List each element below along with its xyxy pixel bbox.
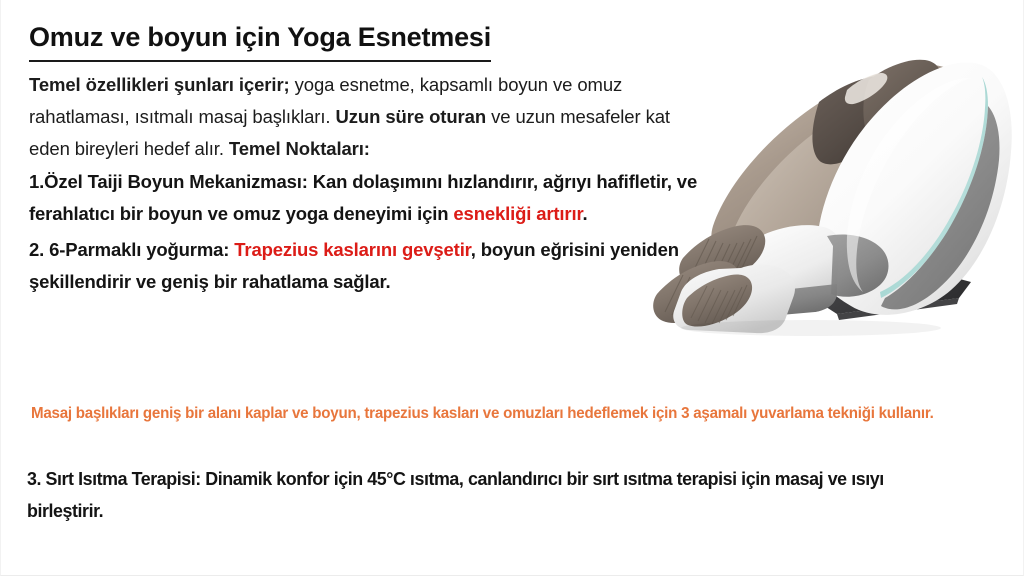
feature-item-1: 1.Özel Taiji Boyun Mekanizması: Kan dola… bbox=[29, 166, 709, 230]
content-column: Omuz ve boyun için Yoga Esnetmesi Temel … bbox=[29, 22, 709, 298]
feature-item-1-number: 1. bbox=[29, 171, 44, 192]
intro-lead-bold: Temel özellikleri şunları içerir; bbox=[29, 74, 290, 95]
intro-paragraph: Temel özellikleri şunları içerir; yoga e… bbox=[29, 69, 709, 166]
feature-item-2: 2. 6-Parmaklı yoğurma: Trapezius kasları… bbox=[29, 234, 709, 298]
intro-bold-3: Temel Noktaları: bbox=[229, 138, 370, 159]
slide-page: Omuz ve boyun için Yoga Esnetmesi Temel … bbox=[0, 0, 1024, 576]
feature-item-1-text-after: . bbox=[583, 203, 588, 224]
feature-item-2-text: 6-Parmaklı yoğurma: bbox=[49, 239, 234, 260]
massage-chair-svg bbox=[641, 36, 1024, 336]
feature-item-2-highlight: Trapezius kaslarını gevşetir bbox=[234, 239, 470, 260]
feature-item-1-text: Özel Taiji Boyun Mekanizması: Kan dolaşı… bbox=[29, 171, 697, 224]
chair-shadow bbox=[681, 320, 941, 336]
callout-text: Masaj başlıkları geniş bir alanı kaplar … bbox=[31, 400, 938, 428]
feature-item-1-highlight: esnekliği artırır bbox=[453, 203, 582, 224]
page-title: Omuz ve boyun için Yoga Esnetmesi bbox=[29, 22, 491, 62]
intro-bold-2: Uzun süre oturan bbox=[336, 106, 487, 127]
feature-item-2-number: 2. bbox=[29, 239, 49, 260]
massage-chair-illustration bbox=[641, 36, 1024, 336]
feature-item-3: 3. Sırt Isıtma Terapisi: Dinamik konfor … bbox=[27, 463, 934, 528]
